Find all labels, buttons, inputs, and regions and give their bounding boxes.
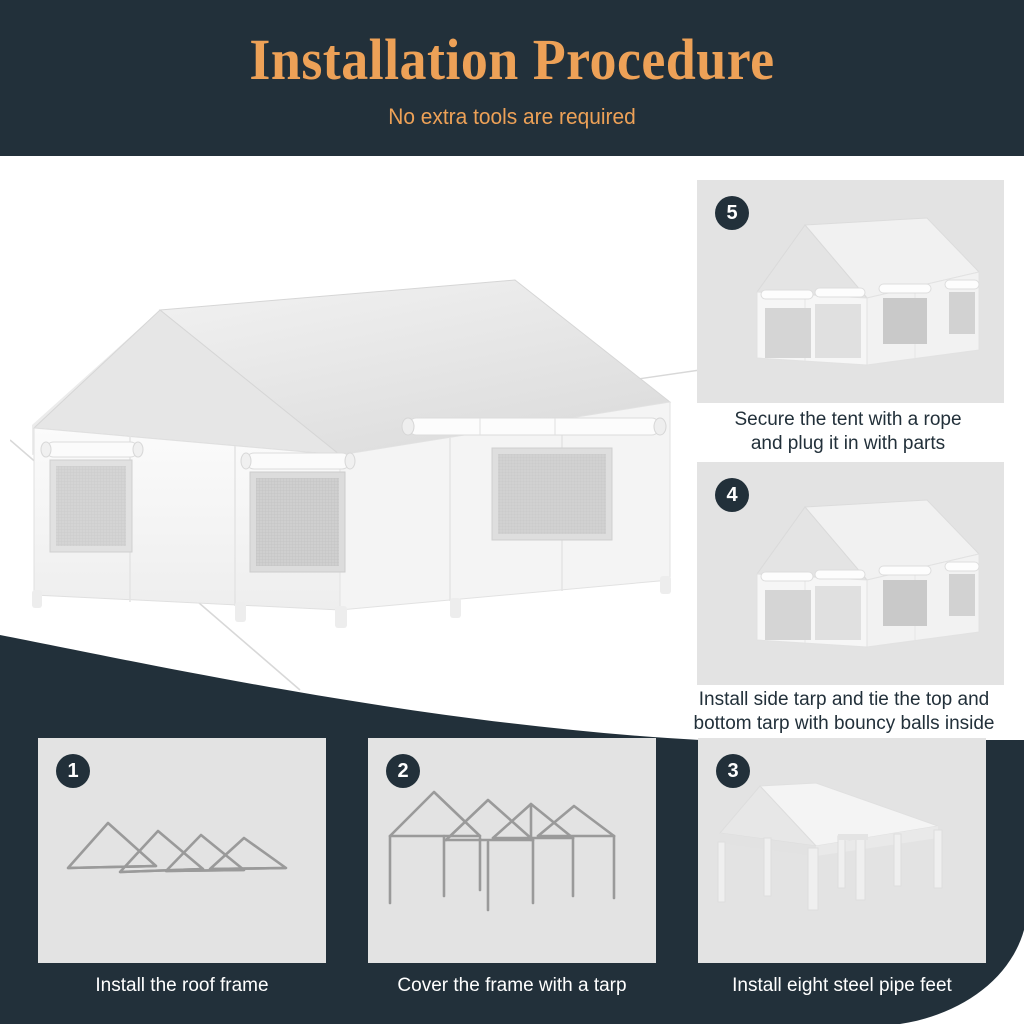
rolled-awning — [241, 453, 355, 469]
step-caption-1: Install the roof frame — [24, 974, 340, 998]
step-badge: 5 — [715, 196, 749, 230]
step-panel-2: 2 — [368, 738, 656, 963]
page-subtitle: No extra tools are required — [26, 104, 999, 130]
step-badge: 1 — [56, 754, 90, 788]
installation-procedure-infographic: Installation Procedure No extra tools ar… — [0, 0, 1024, 1024]
step-caption-4: Install side tarp and tie the top and bo… — [664, 688, 1024, 736]
step-caption-2: Cover the frame with a tarp — [354, 974, 670, 998]
hero-carport-illustration — [10, 250, 700, 700]
step-panel-3: 3 — [698, 738, 986, 963]
step-caption-5: Secure the tent with a rope and plug it … — [672, 408, 1024, 456]
step-panel-4: 4 — [697, 462, 1004, 685]
step-badge: 3 — [716, 754, 750, 788]
step-caption-3: Install eight steel pipe feet — [684, 974, 1000, 998]
page-title: Installation Procedure — [36, 26, 988, 93]
roller-bar — [402, 418, 666, 435]
rolled-awning — [41, 442, 143, 457]
step-badge: 2 — [386, 754, 420, 788]
step-badge: 4 — [715, 478, 749, 512]
step-panel-1: 1 — [38, 738, 326, 963]
step-panel-5: 5 — [697, 180, 1004, 403]
